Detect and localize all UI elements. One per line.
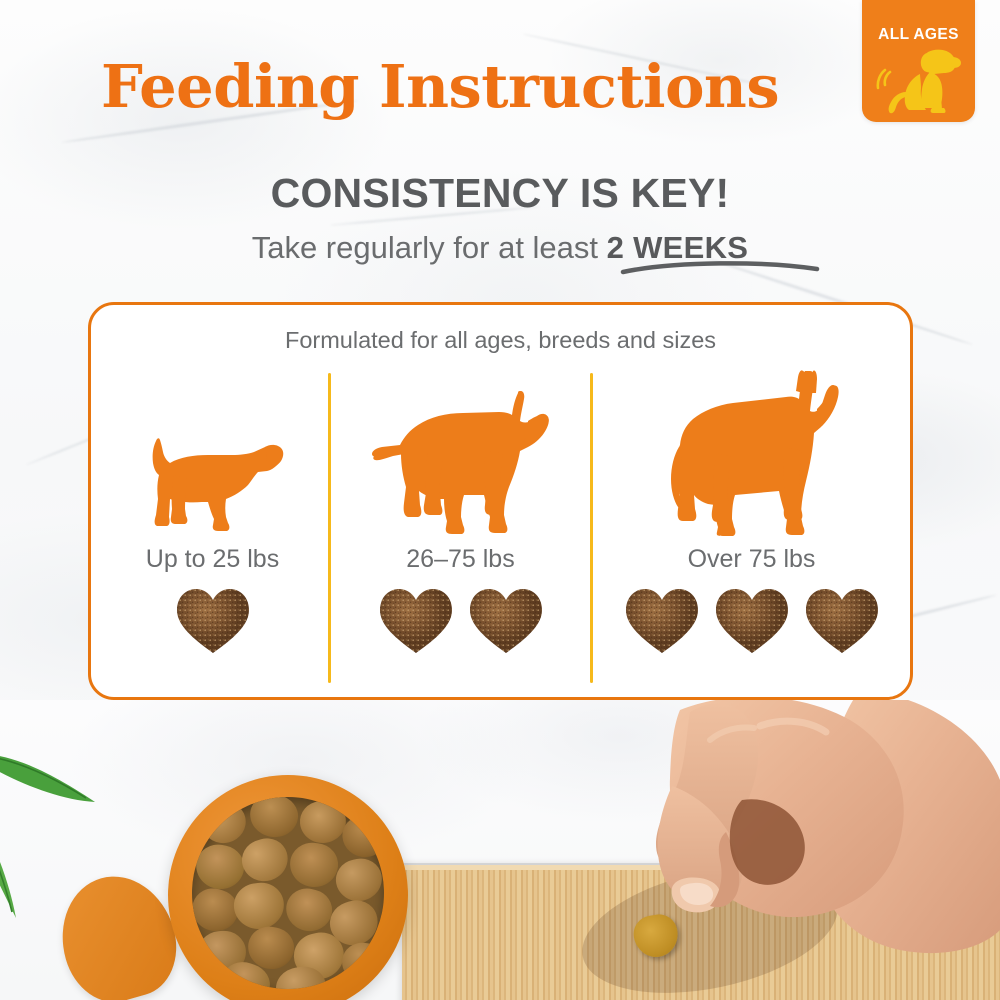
dog-treat-bowl xyxy=(168,775,408,1000)
feeding-chart-card: Formulated for all ages, breeds and size… xyxy=(88,302,913,700)
all-ages-badge: ALL AGES xyxy=(862,0,975,122)
size-label-large: Over 75 lbs xyxy=(593,545,910,574)
treat-row-small xyxy=(97,584,328,656)
badge-label: ALL AGES xyxy=(862,26,975,44)
bowl-interior xyxy=(192,797,384,989)
hand-holding-treat xyxy=(560,700,1000,1000)
treat-row-medium xyxy=(331,584,590,656)
consistency-heading: CONSISTENCY IS KEY! xyxy=(0,170,1000,217)
size-column-large: Over 75 lbs xyxy=(593,367,910,656)
size-label-small: Up to 25 lbs xyxy=(97,545,328,574)
page-title: Feeding Instructions xyxy=(0,52,1000,121)
treat-icon xyxy=(713,584,791,656)
treat-icon xyxy=(803,584,881,656)
size-label-medium: 26–75 lbs xyxy=(331,545,590,574)
size-column-small: Up to 25 lbs xyxy=(97,367,328,656)
treat-icon xyxy=(623,584,701,656)
treat-icon xyxy=(377,584,455,656)
green-plant-leaf xyxy=(0,750,100,810)
product-photo xyxy=(0,700,1000,1000)
small-dog-wrap xyxy=(97,367,328,537)
take-regularly-line: Take regularly for at least 2 WEEKS xyxy=(0,230,1000,266)
green-plant-leaf xyxy=(0,810,72,920)
medium-dog-icon xyxy=(368,385,554,537)
underline-swoosh xyxy=(620,258,820,276)
small-dog-icon xyxy=(138,425,288,537)
treat-icon xyxy=(467,584,545,656)
medium-dog-wrap xyxy=(331,367,590,537)
treat-icon xyxy=(174,584,252,656)
large-dog-wrap xyxy=(593,367,910,537)
sitting-dog-icon xyxy=(876,44,962,116)
large-dog-icon xyxy=(657,369,847,537)
card-subtitle: Formulated for all ages, breeds and size… xyxy=(91,327,910,354)
take-regularly-prefix: Take regularly for at least xyxy=(252,230,607,265)
treat-row-large xyxy=(593,584,910,656)
size-column-medium: 26–75 lbs xyxy=(331,367,590,656)
